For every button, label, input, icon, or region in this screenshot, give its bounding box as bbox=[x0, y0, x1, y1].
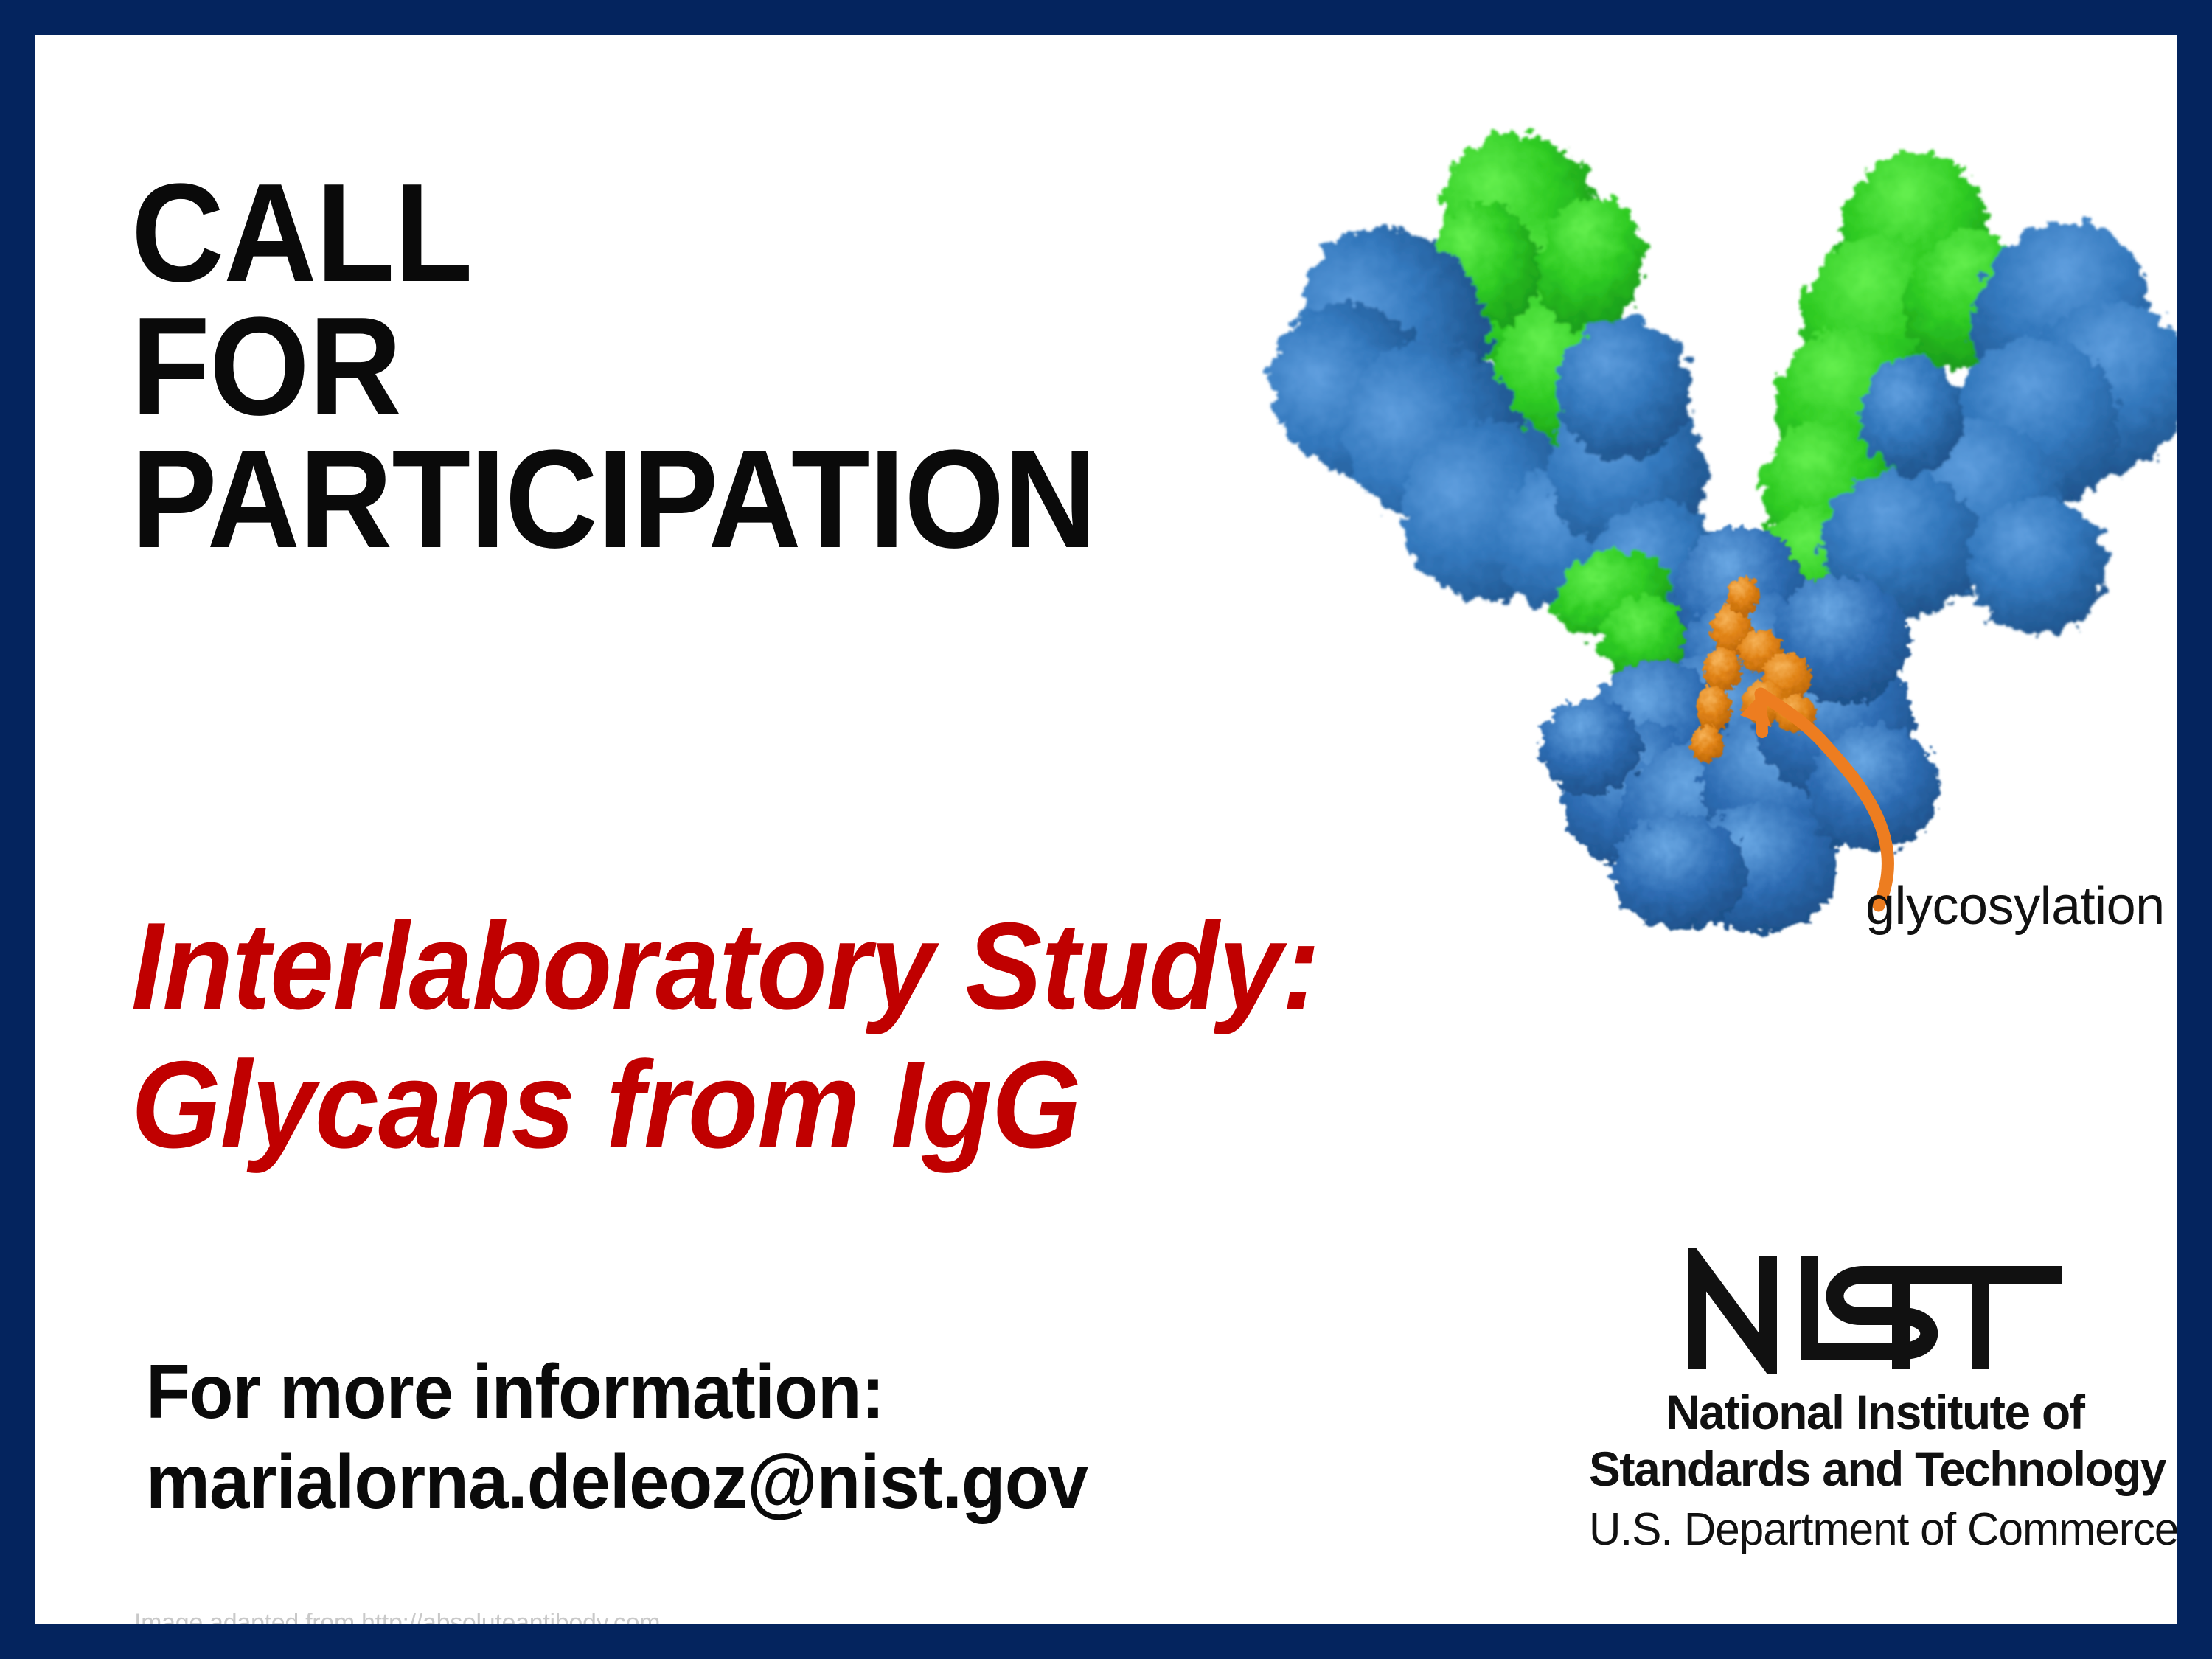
contact-block: For more information: marialorna.deleoz@… bbox=[146, 1348, 1088, 1527]
contact-email[interactable]: marialorna.deleoz@nist.gov bbox=[146, 1438, 1088, 1528]
nist-wordmark-icon bbox=[1680, 1248, 2070, 1374]
nist-line-2: Standards and Technology bbox=[1589, 1441, 2161, 1498]
image-credit: Image adapted from http://absoluteantibo… bbox=[134, 1609, 660, 1624]
headline-line-1: CALL bbox=[131, 167, 1217, 300]
headline-line-2: FOR bbox=[131, 300, 1217, 434]
fab-arm-left bbox=[1245, 111, 1731, 684]
fab-arm-right bbox=[1759, 136, 2177, 643]
contact-prompt: For more information: bbox=[146, 1348, 1088, 1438]
poster-canvas: CALL FOR PARTICIPATION Interlaboratory S… bbox=[35, 35, 2177, 1624]
poster-root: CALL FOR PARTICIPATION Interlaboratory S… bbox=[0, 0, 2212, 1659]
igg-antibody-icon bbox=[1245, 80, 2177, 950]
headline-line-3: PARTICIPATION bbox=[131, 433, 1217, 566]
page-title: CALL FOR PARTICIPATION bbox=[131, 167, 1217, 566]
nist-line-3: U.S. Department of Commerce bbox=[1589, 1503, 2161, 1557]
nist-logo: National Institute of Standards and Tech… bbox=[1580, 1248, 2170, 1557]
study-title-line-2: Glycans from IgG bbox=[131, 1035, 1571, 1174]
nist-line-1: National Institute of bbox=[1589, 1384, 2161, 1441]
igg-antibody-figure bbox=[1245, 80, 2177, 950]
glycosylation-label: glycosylation bbox=[1865, 876, 2165, 936]
